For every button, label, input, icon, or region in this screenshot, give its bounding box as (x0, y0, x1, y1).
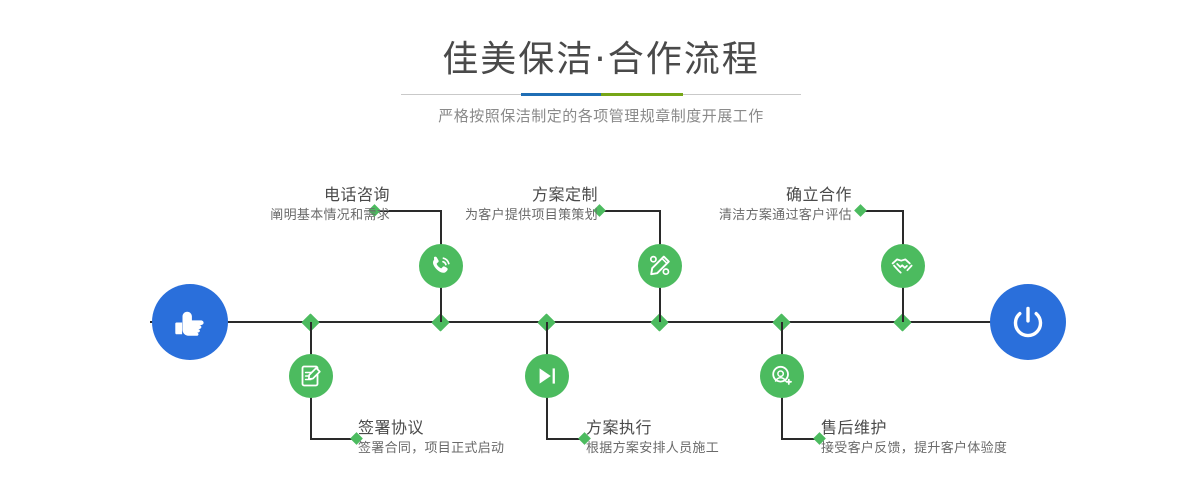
step-desc: 清洁方案通过客户评估 (620, 206, 852, 226)
step-label-plan-customize: 方案定制 为客户提供项目策策划 (370, 184, 598, 226)
play-forward-icon (534, 363, 560, 389)
step-label-after-sales: 售后维护 接受客户反馈，提升客户体验度 (821, 417, 1121, 459)
power-icon (1006, 300, 1050, 344)
timeline-start-node[interactable] (152, 284, 228, 360)
step-desc: 阐明基本情况和需求 (150, 206, 390, 226)
title-divider (401, 93, 801, 96)
divider-segment-blue (521, 93, 601, 96)
document-edit-icon (298, 363, 324, 389)
connector-horizontal (862, 210, 904, 212)
step-icon-phone-call[interactable] (419, 244, 463, 288)
timeline-axis (150, 321, 1052, 323)
header: 佳美保洁·合作流程 严格按照保洁制定的各项管理规章制度开展工作 (0, 0, 1202, 140)
step-title: 电话咨询 (150, 184, 390, 206)
timeline: 电话咨询 阐明基本情况和需求 签署协议 签署合同，项目正式启动 (0, 140, 1202, 502)
pointing-hand-icon (168, 300, 212, 344)
step-desc: 为客户提供项目策策划 (370, 206, 598, 226)
process-flow-infographic: 佳美保洁·合作流程 严格按照保洁制定的各项管理规章制度开展工作 (0, 0, 1202, 502)
step-icon-plan-execute[interactable] (525, 354, 569, 398)
page-subtitle: 严格按照保洁制定的各项管理规章制度开展工作 (0, 105, 1202, 127)
step-icon-after-sales[interactable] (760, 354, 804, 398)
pen-compass-icon (647, 253, 673, 279)
divider-segment-green (601, 93, 683, 96)
headset-support-icon (769, 363, 795, 389)
step-title: 方案定制 (370, 184, 598, 206)
step-desc: 接受客户反馈，提升客户体验度 (821, 439, 1121, 459)
handshake-icon (890, 253, 916, 279)
step-label-establish-cooperation: 确立合作 清洁方案通过客户评估 (620, 184, 852, 226)
step-label-phone-consult: 电话咨询 阐明基本情况和需求 (150, 184, 390, 226)
step-icon-plan-customize[interactable] (638, 244, 682, 288)
phone-call-icon (428, 253, 454, 279)
connector-endpoint-dot (854, 204, 867, 217)
step-icon-sign-agreement[interactable] (289, 354, 333, 398)
step-icon-establish-cooperation[interactable] (881, 244, 925, 288)
step-title: 售后维护 (821, 417, 1121, 439)
step-title: 确立合作 (620, 184, 852, 206)
timeline-end-node[interactable] (990, 284, 1066, 360)
page-title: 佳美保洁·合作流程 (0, 38, 1202, 82)
